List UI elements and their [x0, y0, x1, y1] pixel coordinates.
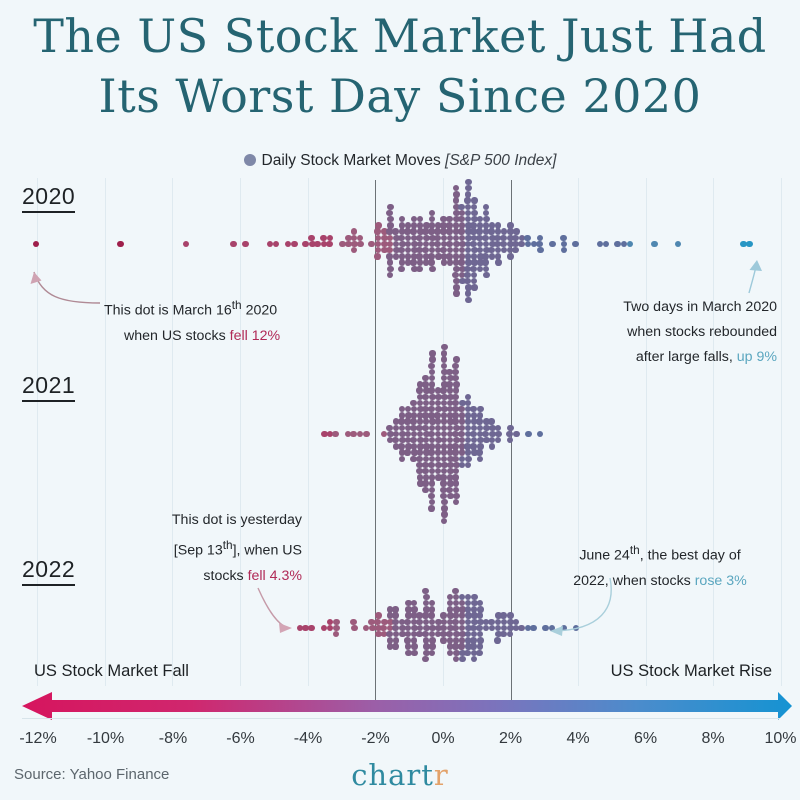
data-point — [422, 480, 428, 486]
data-point — [459, 222, 465, 228]
data-point — [483, 204, 489, 210]
data-point — [482, 259, 488, 265]
data-point — [308, 625, 314, 631]
data-point — [483, 210, 489, 216]
data-point — [434, 412, 440, 418]
infographic-canvas: The US Stock Market Just Had Its Worst D… — [0, 0, 800, 800]
data-point — [453, 480, 459, 486]
data-point — [308, 235, 314, 241]
data-point — [351, 228, 357, 234]
data-point — [387, 266, 393, 272]
data-point — [465, 185, 471, 191]
data-point — [513, 228, 519, 234]
data-point — [428, 259, 434, 265]
gridline-pos8 — [713, 178, 714, 686]
axis-tick-8: 8% — [701, 730, 724, 748]
data-point — [452, 400, 458, 406]
data-point — [429, 350, 435, 356]
data-point — [464, 650, 470, 656]
data-point — [453, 381, 459, 387]
data-point — [398, 235, 404, 241]
axis-tick-10: 10% — [764, 730, 796, 748]
data-point — [422, 381, 428, 387]
data-point — [465, 179, 471, 185]
data-point — [471, 594, 477, 600]
data-point — [477, 216, 483, 222]
axis-tick-2: 2% — [499, 730, 522, 748]
data-point — [512, 247, 518, 253]
data-point — [428, 505, 434, 511]
data-point — [507, 425, 513, 431]
data-point — [411, 650, 417, 656]
data-point — [422, 487, 428, 493]
data-point — [495, 259, 501, 265]
data-point — [482, 235, 488, 241]
legend-sublabel: [S&P 500 Index] — [445, 152, 556, 169]
data-point — [464, 197, 470, 203]
data-point — [428, 387, 434, 393]
data-point — [350, 619, 356, 625]
data-point — [440, 612, 446, 618]
data-point — [441, 511, 447, 517]
data-point — [416, 266, 422, 272]
annotation-yesterday-line1: This dot is yesterday — [122, 508, 302, 533]
data-point — [416, 619, 422, 625]
data-point — [501, 228, 507, 234]
data-point — [410, 418, 416, 424]
data-point — [488, 228, 494, 234]
data-point — [416, 235, 422, 241]
data-point — [452, 588, 458, 594]
direction-label-rise: US Stock Market Rise — [611, 662, 772, 681]
data-point — [440, 637, 446, 643]
data-point — [459, 656, 465, 662]
row-label-2020: 2020 — [22, 183, 75, 213]
axis-tick-4: 4% — [566, 730, 589, 748]
gridline-neg8 — [172, 178, 173, 686]
data-point — [489, 443, 495, 449]
data-point — [363, 431, 369, 437]
data-point — [429, 600, 435, 606]
data-point — [291, 241, 297, 247]
data-point — [518, 241, 524, 247]
data-point — [386, 210, 392, 216]
data-point — [500, 631, 506, 637]
annotation-yesterday-sup: th — [223, 538, 233, 552]
annotation-june24-line1b: , the best day of — [640, 548, 741, 564]
gridline-neg6 — [240, 178, 241, 686]
gridline-neg12 — [37, 178, 38, 686]
data-point — [476, 418, 482, 424]
data-point — [452, 369, 458, 375]
annotation-rebound-line2: when stocks rebounded — [623, 320, 777, 345]
annotation-march16-line1: This dot is March 16 — [104, 303, 232, 319]
data-point — [399, 456, 405, 462]
data-point — [507, 222, 513, 228]
data-point — [500, 235, 506, 241]
annotation-yesterday-line2b: ], when US — [233, 543, 302, 559]
data-point — [327, 625, 333, 631]
data-point — [524, 235, 530, 241]
brand-accent: r — [434, 758, 449, 792]
data-point — [512, 235, 518, 241]
data-point — [387, 216, 393, 222]
data-point — [537, 247, 543, 253]
data-point — [230, 241, 236, 247]
data-point — [549, 625, 555, 631]
annotation-rebound-line1: Two days in March 2020 — [623, 295, 777, 320]
data-point — [465, 400, 471, 406]
data-point — [392, 606, 398, 612]
axis-tick--4: -4% — [294, 730, 322, 748]
data-point — [452, 619, 458, 625]
row-label-2021: 2021 — [22, 372, 75, 402]
data-point — [465, 290, 471, 296]
annotation-march16: This dot is March 16th 2020 when US stoc… — [104, 293, 280, 349]
gridline-pos4 — [578, 178, 579, 686]
data-point — [387, 259, 393, 265]
data-point — [465, 456, 471, 462]
data-point — [422, 588, 428, 594]
row-label-2022: 2022 — [22, 556, 75, 586]
data-point — [525, 431, 531, 437]
page-title-line-2: Its Worst Day Since 2020 — [0, 68, 800, 124]
axis-tick--6: -6% — [226, 730, 254, 748]
data-point — [357, 241, 363, 247]
data-point — [476, 449, 482, 455]
data-point — [465, 297, 471, 303]
data-point — [429, 650, 435, 656]
data-point — [411, 643, 417, 649]
data-point — [459, 612, 465, 618]
data-point — [465, 210, 471, 216]
data-point — [465, 394, 471, 400]
gridline-pos10 — [781, 178, 782, 686]
brand-logo: chartr — [0, 758, 800, 792]
data-point — [470, 643, 476, 649]
data-point — [477, 612, 483, 618]
page-title-line-1: The US Stock Market Just Had — [0, 8, 800, 64]
annotation-rebound-highlight: up 9% — [737, 349, 777, 365]
data-point — [320, 235, 326, 241]
data-point — [410, 400, 416, 406]
data-point — [675, 241, 681, 247]
data-point — [453, 656, 459, 662]
data-point — [488, 619, 494, 625]
data-point — [410, 228, 416, 234]
data-point — [440, 387, 446, 393]
data-point — [477, 406, 483, 412]
data-point — [422, 394, 428, 400]
data-point — [452, 363, 458, 369]
data-point — [357, 235, 363, 241]
annotation-june24-line2a: 2022, when stocks — [573, 573, 694, 589]
data-point — [183, 241, 189, 247]
data-point — [399, 216, 405, 222]
gridline-pos6 — [646, 178, 647, 686]
data-point — [440, 480, 446, 486]
axis-tick--12: -12% — [19, 730, 56, 748]
data-point — [458, 204, 464, 210]
data-point — [363, 625, 369, 631]
data-point — [500, 612, 506, 618]
data-point — [476, 650, 482, 656]
data-point — [561, 625, 567, 631]
data-point — [423, 619, 429, 625]
data-point — [471, 284, 477, 290]
data-point — [350, 431, 356, 437]
data-point — [447, 606, 453, 612]
data-point — [560, 235, 566, 241]
data-point — [477, 643, 483, 649]
gridline-neg4 — [308, 178, 309, 686]
data-point — [375, 222, 381, 228]
data-point — [452, 418, 458, 424]
data-point — [117, 241, 123, 247]
annotation-june24: June 24th, the best day of 2022, when st… — [535, 538, 785, 594]
data-point — [387, 204, 393, 210]
data-point — [477, 606, 483, 612]
data-point — [374, 619, 380, 625]
data-point — [441, 350, 447, 356]
data-point — [453, 197, 459, 203]
data-point — [452, 449, 458, 455]
data-point — [507, 253, 513, 259]
data-point — [326, 241, 332, 247]
data-point — [561, 247, 567, 253]
data-point — [429, 356, 435, 362]
data-point — [441, 363, 447, 369]
data-point — [399, 412, 405, 418]
data-point — [428, 449, 434, 455]
annotation-march16-sup: th — [232, 298, 242, 312]
data-point — [471, 656, 477, 662]
annotation-rebound-line3a: after large falls, — [636, 349, 737, 365]
data-point — [470, 406, 476, 412]
data-point — [33, 241, 39, 247]
data-point — [428, 363, 434, 369]
data-point — [441, 356, 447, 362]
data-point — [302, 241, 308, 247]
data-point — [453, 387, 459, 393]
data-point — [446, 222, 452, 228]
data-point — [416, 387, 422, 393]
data-point — [351, 625, 357, 631]
data-point — [386, 425, 392, 431]
data-point — [446, 381, 452, 387]
data-point — [374, 228, 380, 234]
data-point — [476, 228, 482, 234]
data-point — [603, 241, 609, 247]
axis-baseline — [22, 718, 780, 719]
data-point — [458, 406, 464, 412]
data-point — [417, 449, 423, 455]
annotation-march16-line1b: 2020 — [242, 303, 278, 319]
data-point — [746, 241, 752, 247]
data-point — [429, 606, 435, 612]
annotation-june24-line1a: June 24 — [579, 548, 630, 564]
data-point — [494, 637, 500, 643]
data-point — [429, 210, 435, 216]
data-point — [537, 431, 543, 437]
data-point — [447, 425, 453, 431]
axis-tick--2: -2% — [361, 730, 389, 748]
data-point — [423, 418, 429, 424]
data-point — [392, 228, 398, 234]
data-point — [242, 241, 248, 247]
data-point — [495, 437, 501, 443]
data-point — [458, 216, 464, 222]
data-point — [477, 456, 483, 462]
data-point — [368, 241, 374, 247]
data-point — [411, 222, 417, 228]
data-point — [404, 449, 410, 455]
data-point — [549, 241, 555, 247]
data-point — [453, 499, 459, 505]
data-point — [314, 241, 320, 247]
data-point — [530, 625, 536, 631]
data-point — [458, 228, 464, 234]
annotation-march16-line2a: when US stocks — [124, 328, 230, 344]
data-point — [542, 625, 548, 631]
data-point — [428, 406, 434, 412]
data-point — [434, 235, 440, 241]
data-point — [465, 191, 471, 197]
axis-tick-0: 0% — [431, 730, 454, 748]
data-point — [417, 259, 423, 265]
data-point — [627, 241, 633, 247]
data-point — [441, 518, 447, 524]
brand-main: chart — [351, 758, 434, 792]
data-point — [327, 235, 333, 241]
data-point — [399, 259, 405, 265]
data-point — [429, 381, 435, 387]
data-point — [572, 241, 578, 247]
annotation-yesterday-line2a: [Sep 13 — [174, 543, 223, 559]
annotation-yesterday: This dot is yesterday [Sep 13th], when U… — [122, 508, 302, 589]
data-point — [483, 272, 489, 278]
data-point — [483, 216, 489, 222]
data-point — [285, 241, 291, 247]
data-point — [351, 247, 357, 253]
annotation-rebound: Two days in March 2020 when stocks rebou… — [623, 295, 777, 370]
data-point — [453, 191, 459, 197]
annotation-march16-highlight: fell 12% — [230, 328, 280, 344]
legend-label: Daily Stock Market Moves — [262, 152, 441, 169]
data-point — [441, 259, 447, 265]
data-point — [422, 656, 428, 662]
data-point — [458, 643, 464, 649]
axis-tick--8: -8% — [159, 730, 187, 748]
data-point — [452, 412, 458, 418]
data-point — [333, 619, 339, 625]
data-point — [404, 619, 410, 625]
data-point — [507, 612, 513, 618]
data-point — [471, 210, 477, 216]
data-point — [332, 431, 338, 437]
data-point — [452, 394, 458, 400]
data-point — [453, 356, 459, 362]
data-point — [477, 412, 483, 418]
data-point — [327, 619, 333, 625]
data-point — [495, 425, 501, 431]
data-point — [458, 259, 464, 265]
data-point — [423, 594, 429, 600]
data-point — [429, 266, 435, 272]
data-point — [537, 235, 543, 241]
data-point — [429, 643, 435, 649]
data-point — [471, 606, 477, 612]
data-point — [513, 619, 519, 625]
data-point — [518, 625, 524, 631]
data-point — [429, 216, 435, 222]
data-point — [471, 197, 477, 203]
data-point — [387, 272, 393, 278]
direction-label-fall: US Stock Market Fall — [34, 662, 189, 681]
data-point — [488, 418, 494, 424]
data-point — [333, 631, 339, 637]
data-point — [447, 650, 453, 656]
legend: Daily Stock Market Moves [S&P 500 Index] — [0, 152, 800, 170]
data-point — [375, 612, 381, 618]
data-point — [465, 462, 471, 468]
annotation-yesterday-highlight: fell 4.3% — [248, 568, 302, 584]
data-point — [398, 266, 404, 272]
data-point — [453, 290, 459, 296]
data-point — [452, 375, 458, 381]
data-point — [651, 241, 657, 247]
data-point — [392, 612, 398, 618]
data-point — [429, 480, 435, 486]
legend-dot-icon — [244, 154, 256, 166]
gridline-neg10 — [105, 178, 106, 686]
data-point — [441, 344, 447, 350]
data-point — [429, 375, 435, 381]
data-point — [471, 204, 477, 210]
data-point — [446, 228, 452, 234]
data-point — [470, 222, 476, 228]
data-point — [422, 375, 428, 381]
data-point — [446, 216, 452, 222]
data-point — [459, 412, 465, 418]
annotation-june24-sup: th — [630, 543, 640, 557]
data-point — [422, 425, 428, 431]
data-point — [387, 235, 393, 241]
data-point — [392, 619, 398, 625]
data-point — [273, 241, 279, 247]
data-point — [381, 431, 387, 437]
data-point — [417, 216, 423, 222]
data-point — [428, 612, 434, 618]
data-point — [392, 643, 398, 649]
data-point — [513, 431, 519, 437]
data-point — [465, 600, 471, 606]
axis-tick-6: 6% — [634, 730, 657, 748]
annotation-yesterday-line3a: stocks — [203, 568, 247, 584]
annotation-june24-highlight: rose 3% — [695, 573, 747, 589]
data-point — [495, 222, 501, 228]
data-point — [429, 369, 435, 375]
data-point — [374, 253, 380, 259]
data-point — [614, 241, 620, 247]
data-point — [410, 259, 416, 265]
axis-tick--10: -10% — [87, 730, 124, 748]
data-point — [411, 406, 417, 412]
